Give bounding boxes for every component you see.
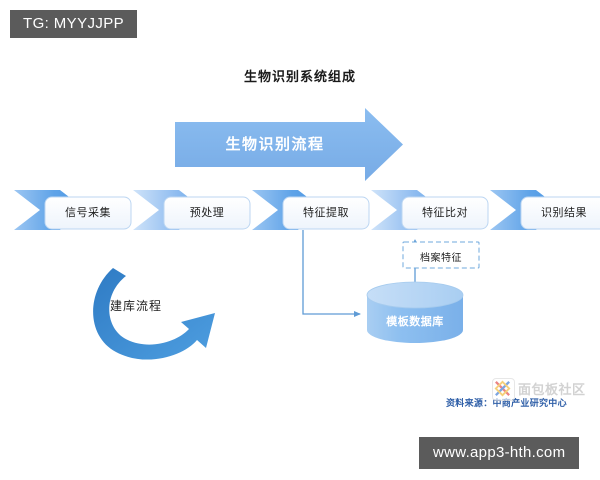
url-badge: www.app3-hth.com [419, 437, 579, 469]
watermark-logo-icon [492, 378, 515, 401]
diagram-canvas: 生物识别系统组成 生物识别流程 信号采集 预处理 特征提取 特征比对 识别结果 … [0, 0, 600, 480]
stage-box-3[interactable] [283, 197, 369, 229]
build-flow-arrow [93, 268, 215, 360]
page-title: 生物识别系统组成 [0, 66, 600, 85]
watermark-label: 面包板社区 [518, 383, 586, 396]
banner-arrow [175, 108, 403, 181]
stage-box-4[interactable] [402, 197, 488, 229]
stage-box-5[interactable] [521, 197, 600, 229]
stage-box-1[interactable] [45, 197, 131, 229]
watermark: 面包板社区 [492, 378, 586, 401]
tg-badge: TG: MYYJJPP [10, 10, 137, 38]
archive-feature-box [403, 242, 479, 268]
connector-extract-to-db [303, 230, 360, 314]
stage-box-2[interactable] [164, 197, 250, 229]
template-database-cylinder[interactable] [367, 282, 463, 343]
